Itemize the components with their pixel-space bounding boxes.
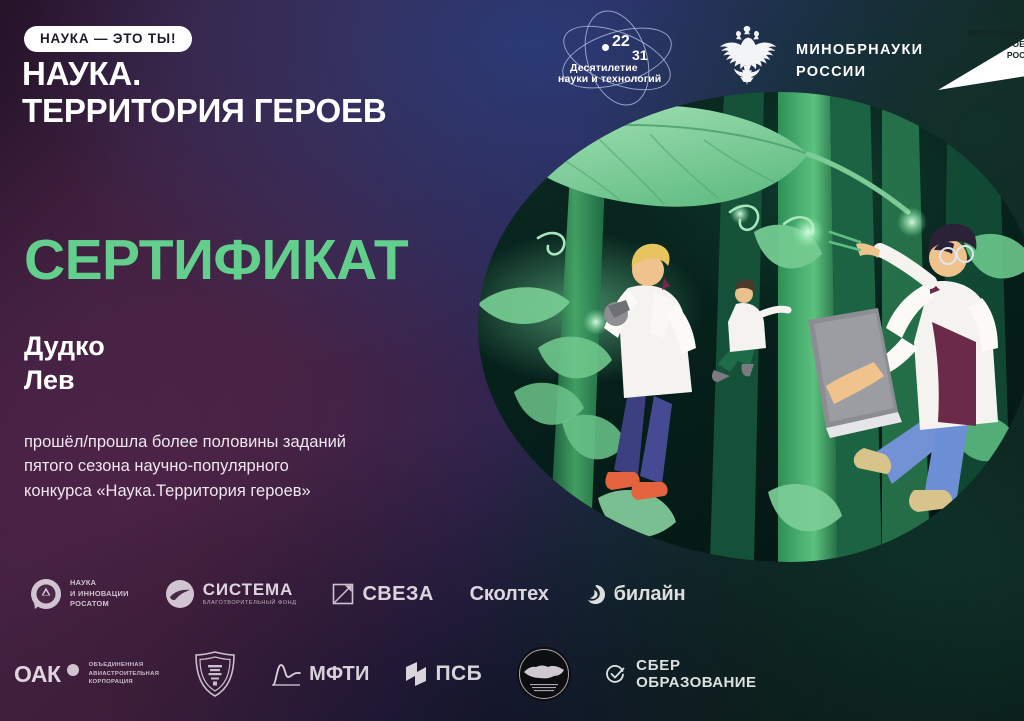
- slogan-badge: НАУКА — ЭТО ТЫ!: [24, 26, 192, 52]
- sponsor-sveza-label: СВЕЗА: [362, 583, 433, 606]
- sponsor-sveza: СВЕЗА: [332, 583, 433, 606]
- russia-map-emblem-icon: [516, 646, 572, 702]
- sponsor-skoltech-label: Сколтех: [470, 583, 549, 606]
- decade-of-science-logo: 22 31 Десятилетие науки и технологий: [556, 22, 678, 92]
- sponsor-skoltech: Сколтех: [470, 583, 549, 606]
- sistema-icon: [165, 579, 195, 609]
- national-projects-name: НАЦИОНАЛЬНЫЕ ПРОЕКТЫ РОССИИ: [962, 28, 1024, 62]
- sponsor-uac: ОАК ОБЪЕДИНЕННАЯ АВИАСТРОИТЕЛЬНАЯ КОРПОР…: [14, 661, 159, 688]
- sber-check-icon: [606, 665, 625, 684]
- certificate-body-text: прошёл/прошла более половины заданий пят…: [24, 430, 454, 503]
- uac-dot-icon: [67, 664, 79, 676]
- certificate-title: СЕРТИФИКАТ: [24, 232, 408, 289]
- sponsor-row-1: НАУКА И ИННОВАЦИИ РОСАТОМ СИСТЕМА БЛАГОТ…: [0, 578, 1024, 610]
- ministry-logo: МИНОБРНАУКИ РОССИИ: [708, 18, 948, 96]
- sponsor-beeline: билайн: [585, 583, 686, 606]
- sponsor-rosatom-label: НАУКА И ИННОВАЦИИ РОСАТОМ: [70, 578, 129, 610]
- recipient-name: Дудко Лев: [24, 330, 105, 398]
- sponsor-sistema: СИСТЕМА БЛАГОТВОРИТЕЛЬНЫЙ ФОНД: [165, 579, 297, 609]
- partner-logo-strip: 22 31 Десятилетие науки и технологий МИН…: [556, 14, 1016, 100]
- mipt-waveform-icon: [271, 661, 301, 687]
- sponsor-university-crest: [193, 650, 237, 698]
- double-headed-eagle-icon: [708, 18, 786, 96]
- orbit-node-icon: [602, 44, 609, 51]
- decade-year-start: 22: [612, 33, 630, 51]
- sveza-icon: [332, 583, 354, 605]
- ministry-name: МИНОБРНАУКИ РОССИИ: [796, 40, 923, 84]
- sponsor-psb: ПСБ: [404, 661, 483, 687]
- sponsor-sber-line1: СБЕР: [636, 657, 756, 674]
- psb-icon: [404, 661, 428, 687]
- university-crest-icon: [193, 650, 237, 698]
- decade-year-end: 31: [632, 47, 648, 63]
- sponsor-uac-subtitle: ОБЪЕДИНЕННАЯ АВИАСТРОИТЕЛЬНАЯ КОРПОРАЦИЯ: [89, 661, 160, 688]
- scientist-left: [604, 244, 696, 500]
- program-headline: НАУКА. ТЕРРИТОРИЯ ГЕРОЕВ: [22, 56, 387, 130]
- science-illustration: [478, 92, 1024, 562]
- sponsor-psb-label: ПСБ: [436, 662, 483, 686]
- sponsor-logos: НАУКА И ИННОВАЦИИ РОСАТОМ СИСТЕМА БЛАГОТ…: [0, 560, 1024, 700]
- beeline-icon: [585, 584, 606, 605]
- sponsor-uac-label: ОАК: [14, 661, 61, 688]
- sponsor-russia-emblem: [516, 646, 572, 702]
- sponsor-sber-education: СБЕР ОБРАЗОВАНИЕ: [606, 657, 756, 691]
- scientists-on-plant-illustration: [478, 92, 1024, 562]
- sponsor-mipt-label: МФТИ: [309, 663, 369, 686]
- sponsor-sistema-label: СИСТЕМА: [203, 581, 297, 598]
- sponsor-sistema-subtitle: БЛАГОТВОРИТЕЛЬНЫЙ ФОНД: [203, 601, 297, 607]
- sponsor-beeline-label: билайн: [614, 583, 686, 606]
- sponsor-row-2: ОАК ОБЪЕДИНЕННАЯ АВИАСТРОИТЕЛЬНАЯ КОРПОР…: [0, 646, 1024, 702]
- certificate-page: НАУКА — ЭТО ТЫ! НАУКА. ТЕРРИТОРИЯ ГЕРОЕВ…: [0, 0, 1024, 721]
- sponsor-mipt: МФТИ: [271, 661, 369, 687]
- decade-label-line2: науки и технологий: [558, 73, 661, 85]
- sponsor-sber-line2: ОБРАЗОВАНИЕ: [636, 674, 756, 691]
- national-projects-logo: НАЦИОНАЛЬНЫЕ ПРОЕКТЫ РОССИИ: [934, 20, 1024, 94]
- rosatom-icon: [30, 578, 62, 610]
- sponsor-rosatom: НАУКА И ИННОВАЦИИ РОСАТОМ: [30, 578, 129, 610]
